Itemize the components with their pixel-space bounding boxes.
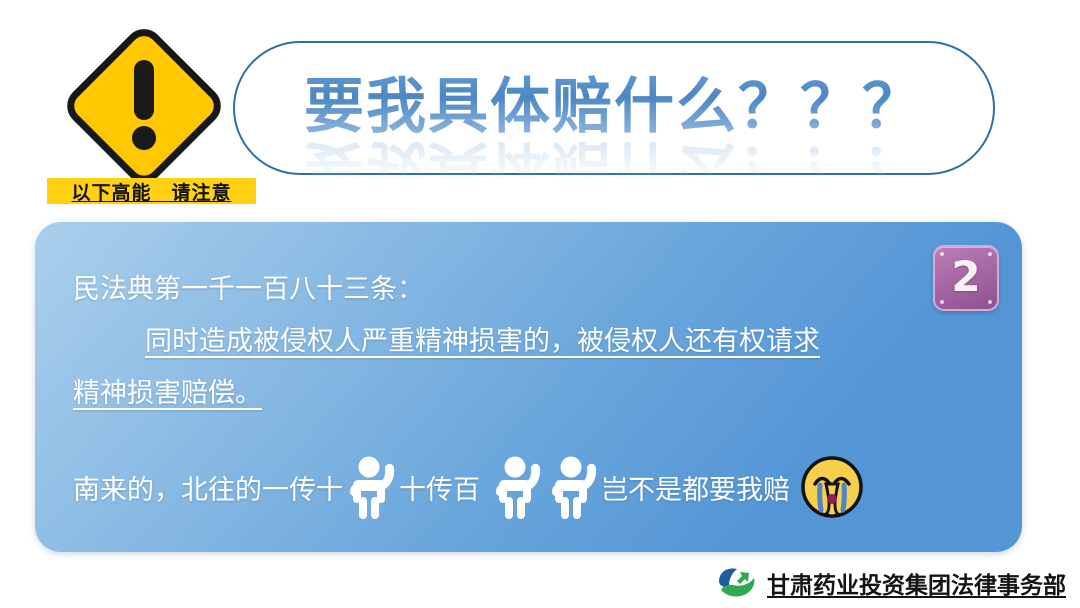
title-reflection: 要我具体赔什么？？？ <box>253 140 975 196</box>
content-panel: 2 民法典第一千一百八十三条： 同时造成被侵权人严重精神损害的，被侵权人还有权请… <box>35 222 1022 552</box>
person-raised-arm-icon <box>490 454 544 520</box>
attention-caption-text: 以下高能 请注意 <box>71 178 231 205</box>
organization-name: 甘肃药业投资集团法律事务部 <box>767 566 1066 600</box>
law-line-2-text: 同时造成被侵权人严重精神损害的，被侵权人还有权请求 <box>145 326 820 357</box>
warning-sign-group <box>56 18 232 194</box>
law-text-block: 民法典第一千一百八十三条： 同时造成被侵权人严重精神损害的，被侵权人还有权请求 … <box>73 264 932 420</box>
person-raised-arm-icon <box>546 454 600 520</box>
badge-rivet <box>940 300 944 304</box>
law-line-2: 同时造成被侵权人严重精神损害的，被侵权人还有权请求 <box>73 316 932 368</box>
attention-caption-bar: 以下高能 请注意 <box>47 178 256 204</box>
bottom-text-part-1: 南来的，北往的一传十 <box>73 468 343 507</box>
badge-rivet <box>940 252 944 256</box>
leaf-circle-logo <box>716 566 758 600</box>
law-line-3: 精神损害赔偿。 <box>73 368 932 420</box>
badge-rivet <box>988 300 992 304</box>
law-line-3-text: 精神损害赔偿。 <box>73 378 262 409</box>
bottom-text-part-2: 十传百 <box>399 468 480 507</box>
step-number-badge: 2 <box>933 245 999 311</box>
page-title: 要我具体赔什么？？？ <box>253 58 975 144</box>
crying-face-emoji <box>799 454 865 520</box>
law-line-1: 民法典第一千一百八十三条： <box>73 264 932 316</box>
badge-rivet <box>988 252 992 256</box>
person-raised-arm-icon <box>344 454 398 520</box>
badge-number: 2 <box>951 256 980 298</box>
footer-branding: 甘肃药业投资集团法律事务部 <box>716 563 1066 603</box>
bottom-caption-row: 南来的，北往的一传十 十传百 <box>73 450 865 524</box>
warning-triangle-exclamation-icon <box>56 18 232 194</box>
slide-canvas: 以下高能 请注意 要我具体赔什么？？？ 要我具体赔什么？？？ 2 民法典第一千一… <box>0 0 1080 608</box>
bottom-text-part-3: 岂不是都要我赔 <box>601 468 790 507</box>
